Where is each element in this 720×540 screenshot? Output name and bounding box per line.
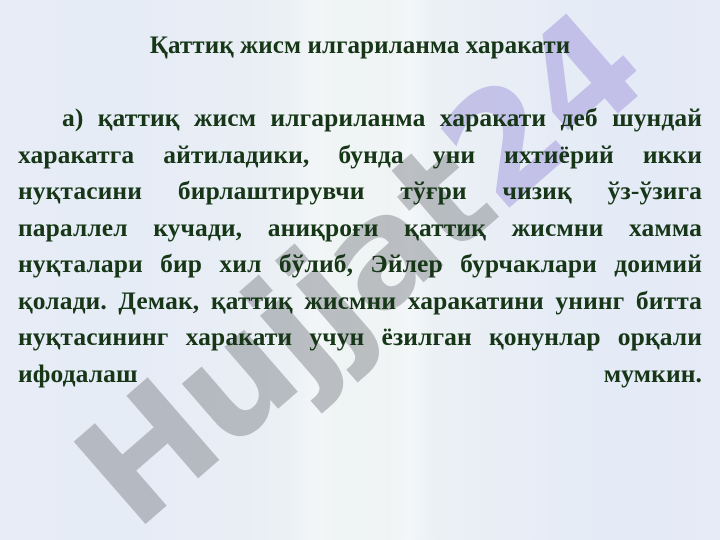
slide-content: Қаттиқ жисм илгариланма харакати а) қатт… <box>0 0 720 540</box>
slide-canvas: Hujjat24 Қаттиқ жисм илгариланма харакат… <box>0 0 720 540</box>
slide-body-paragraph: а) қаттиқ жисм илгариланма харакати деб … <box>18 100 702 429</box>
slide-title: Қаттиқ жисм илгариланма харакати <box>0 32 720 61</box>
